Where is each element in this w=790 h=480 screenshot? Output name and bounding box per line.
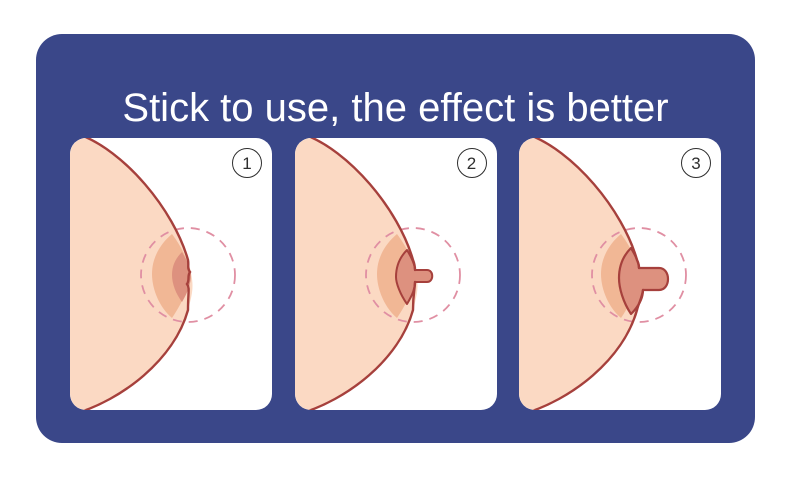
panel-badge-label-3: 3 [691, 155, 700, 172]
page-title: Stick to use, the effect is better [36, 88, 755, 128]
breast-profile-illustration-1 [70, 138, 272, 410]
illustration-panel-row: 1 [70, 138, 721, 410]
breast-profile-illustration-3 [519, 138, 721, 410]
breast-profile-illustration-2 [295, 138, 497, 410]
panel-badge-2: 2 [457, 148, 487, 178]
promo-card: Stick to use, the effect is better [36, 34, 755, 443]
screenshot-root: Stick to use, the effect is better [0, 0, 790, 480]
panel-badge-3: 3 [681, 148, 711, 178]
panel-badge-label-1: 1 [242, 155, 251, 172]
nipple-shape-3 [619, 248, 668, 314]
illustration-panel-1[interactable]: 1 [70, 138, 272, 410]
panel-badge-label-2: 2 [467, 155, 476, 172]
illustration-panel-2[interactable]: 2 [295, 138, 497, 410]
illustration-panel-3[interactable]: 3 [519, 138, 721, 410]
panel-badge-1: 1 [232, 148, 262, 178]
